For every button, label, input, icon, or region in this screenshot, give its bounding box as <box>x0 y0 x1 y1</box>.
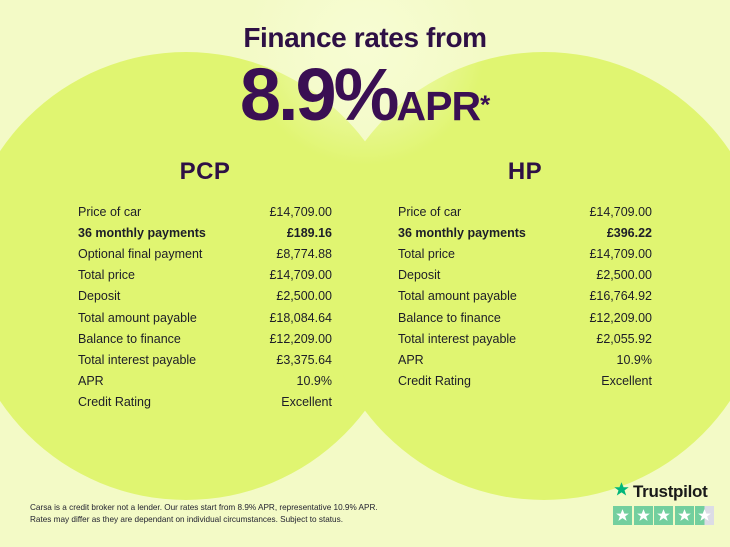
row-label: Price of car <box>78 205 141 219</box>
row-label: APR <box>78 374 104 388</box>
finance-table-hp: Price of car£14,709.0036 monthly payment… <box>398 201 652 392</box>
row-value: £189.16 <box>287 226 332 240</box>
table-row: Total amount payable£18,084.64 <box>78 307 332 328</box>
row-label: 36 monthly payments <box>398 226 526 240</box>
table-row: 36 monthly payments£396.22 <box>398 222 652 243</box>
table-row: APR10.9% <box>398 349 652 370</box>
row-value: £18,084.64 <box>269 311 332 325</box>
row-label: 36 monthly payments <box>78 226 206 240</box>
row-value: £2,055.92 <box>596 332 652 346</box>
rating-star-icon <box>675 506 694 525</box>
trustpilot-label: Trustpilot <box>633 482 707 502</box>
row-label: Total price <box>78 268 135 282</box>
column-title-hp: HP <box>385 158 665 186</box>
row-label: Total interest payable <box>78 353 196 367</box>
table-row: Deposit£2,500.00 <box>78 286 332 307</box>
table-row: Credit RatingExcellent <box>78 392 332 413</box>
row-value: £2,500.00 <box>276 289 332 303</box>
disclaimer-line-2: Rates may differ as they are dependant o… <box>30 514 378 527</box>
table-row: Total amount payable£16,764.92 <box>398 286 652 307</box>
row-value: £12,209.00 <box>269 332 332 346</box>
table-row: APR10.9% <box>78 371 332 392</box>
row-value: £8,774.88 <box>276 247 332 261</box>
row-label: APR <box>398 353 424 367</box>
table-row: Total price£14,709.00 <box>78 265 332 286</box>
table-row: Optional final payment£8,774.88 <box>78 243 332 264</box>
row-value: £2,500.00 <box>596 268 652 282</box>
finance-column-hp: HP Price of car£14,709.0036 monthly paym… <box>385 158 665 413</box>
row-label: Balance to finance <box>398 311 501 325</box>
rating-star-icon <box>613 506 632 525</box>
row-value: £14,709.00 <box>589 205 652 219</box>
table-row: Price of car£14,709.00 <box>398 201 652 222</box>
table-row: Price of car£14,709.00 <box>78 201 332 222</box>
asterisk-marker: * <box>480 90 490 120</box>
row-label: Deposit <box>398 268 440 282</box>
row-value: £16,764.92 <box>589 289 652 303</box>
page-title: Finance rates from <box>0 22 730 54</box>
row-value: £396.22 <box>607 226 652 240</box>
row-value: Excellent <box>601 374 652 388</box>
trustpilot-star-icon <box>613 481 630 503</box>
finance-comparison: PCP Price of car£14,709.0036 monthly pay… <box>0 158 730 413</box>
row-value: 10.9% <box>297 374 332 388</box>
row-value: £14,709.00 <box>269 205 332 219</box>
row-label: Total interest payable <box>398 332 516 346</box>
table-row: Total price£14,709.00 <box>398 243 652 264</box>
table-row: Balance to finance£12,209.00 <box>398 307 652 328</box>
row-value: £12,209.00 <box>589 311 652 325</box>
row-label: Credit Rating <box>398 374 471 388</box>
row-value: 10.9% <box>617 353 652 367</box>
row-label: Total amount payable <box>78 311 197 325</box>
header: Finance rates from 8.9%APR* <box>0 0 730 132</box>
disclaimer-line-1: Carsa is a credit broker not a lender. O… <box>30 502 378 515</box>
row-label: Price of car <box>398 205 461 219</box>
rating-star-icon <box>654 506 673 525</box>
table-row: Credit RatingExcellent <box>398 371 652 392</box>
rating-star-half-icon <box>695 506 714 525</box>
row-label: Credit Rating <box>78 395 151 409</box>
row-label: Total price <box>398 247 455 261</box>
row-value: £14,709.00 <box>589 247 652 261</box>
column-title-pcp: PCP <box>65 158 345 186</box>
rate-unit: APR <box>396 83 480 129</box>
table-row: Deposit£2,500.00 <box>398 265 652 286</box>
table-row: 36 monthly payments£189.16 <box>78 222 332 243</box>
finance-column-pcp: PCP Price of car£14,709.0036 monthly pay… <box>65 158 345 413</box>
row-value: Excellent <box>281 395 332 409</box>
row-label: Balance to finance <box>78 332 181 346</box>
table-row: Total interest payable£2,055.92 <box>398 328 652 349</box>
promo-card: Finance rates from 8.9%APR* PCP Price of… <box>0 0 730 547</box>
trustpilot-star-row <box>613 506 714 525</box>
finance-table-pcp: Price of car£14,709.0036 monthly payment… <box>78 201 332 413</box>
disclaimer: Carsa is a credit broker not a lender. O… <box>30 502 378 527</box>
table-row: Total interest payable£3,375.64 <box>78 349 332 370</box>
row-label: Total amount payable <box>398 289 517 303</box>
row-value: £14,709.00 <box>269 268 332 282</box>
table-row: Balance to finance£12,209.00 <box>78 328 332 349</box>
rate-value: 8.9% <box>240 53 397 136</box>
row-label: Optional final payment <box>78 247 202 261</box>
trustpilot-wordmark: Trustpilot <box>613 481 714 503</box>
row-value: £3,375.64 <box>276 353 332 367</box>
row-label: Deposit <box>78 289 120 303</box>
rating-star-icon <box>634 506 653 525</box>
headline-rate: 8.9%APR* <box>0 58 730 132</box>
trustpilot-rating[interactable]: Trustpilot <box>613 481 714 525</box>
